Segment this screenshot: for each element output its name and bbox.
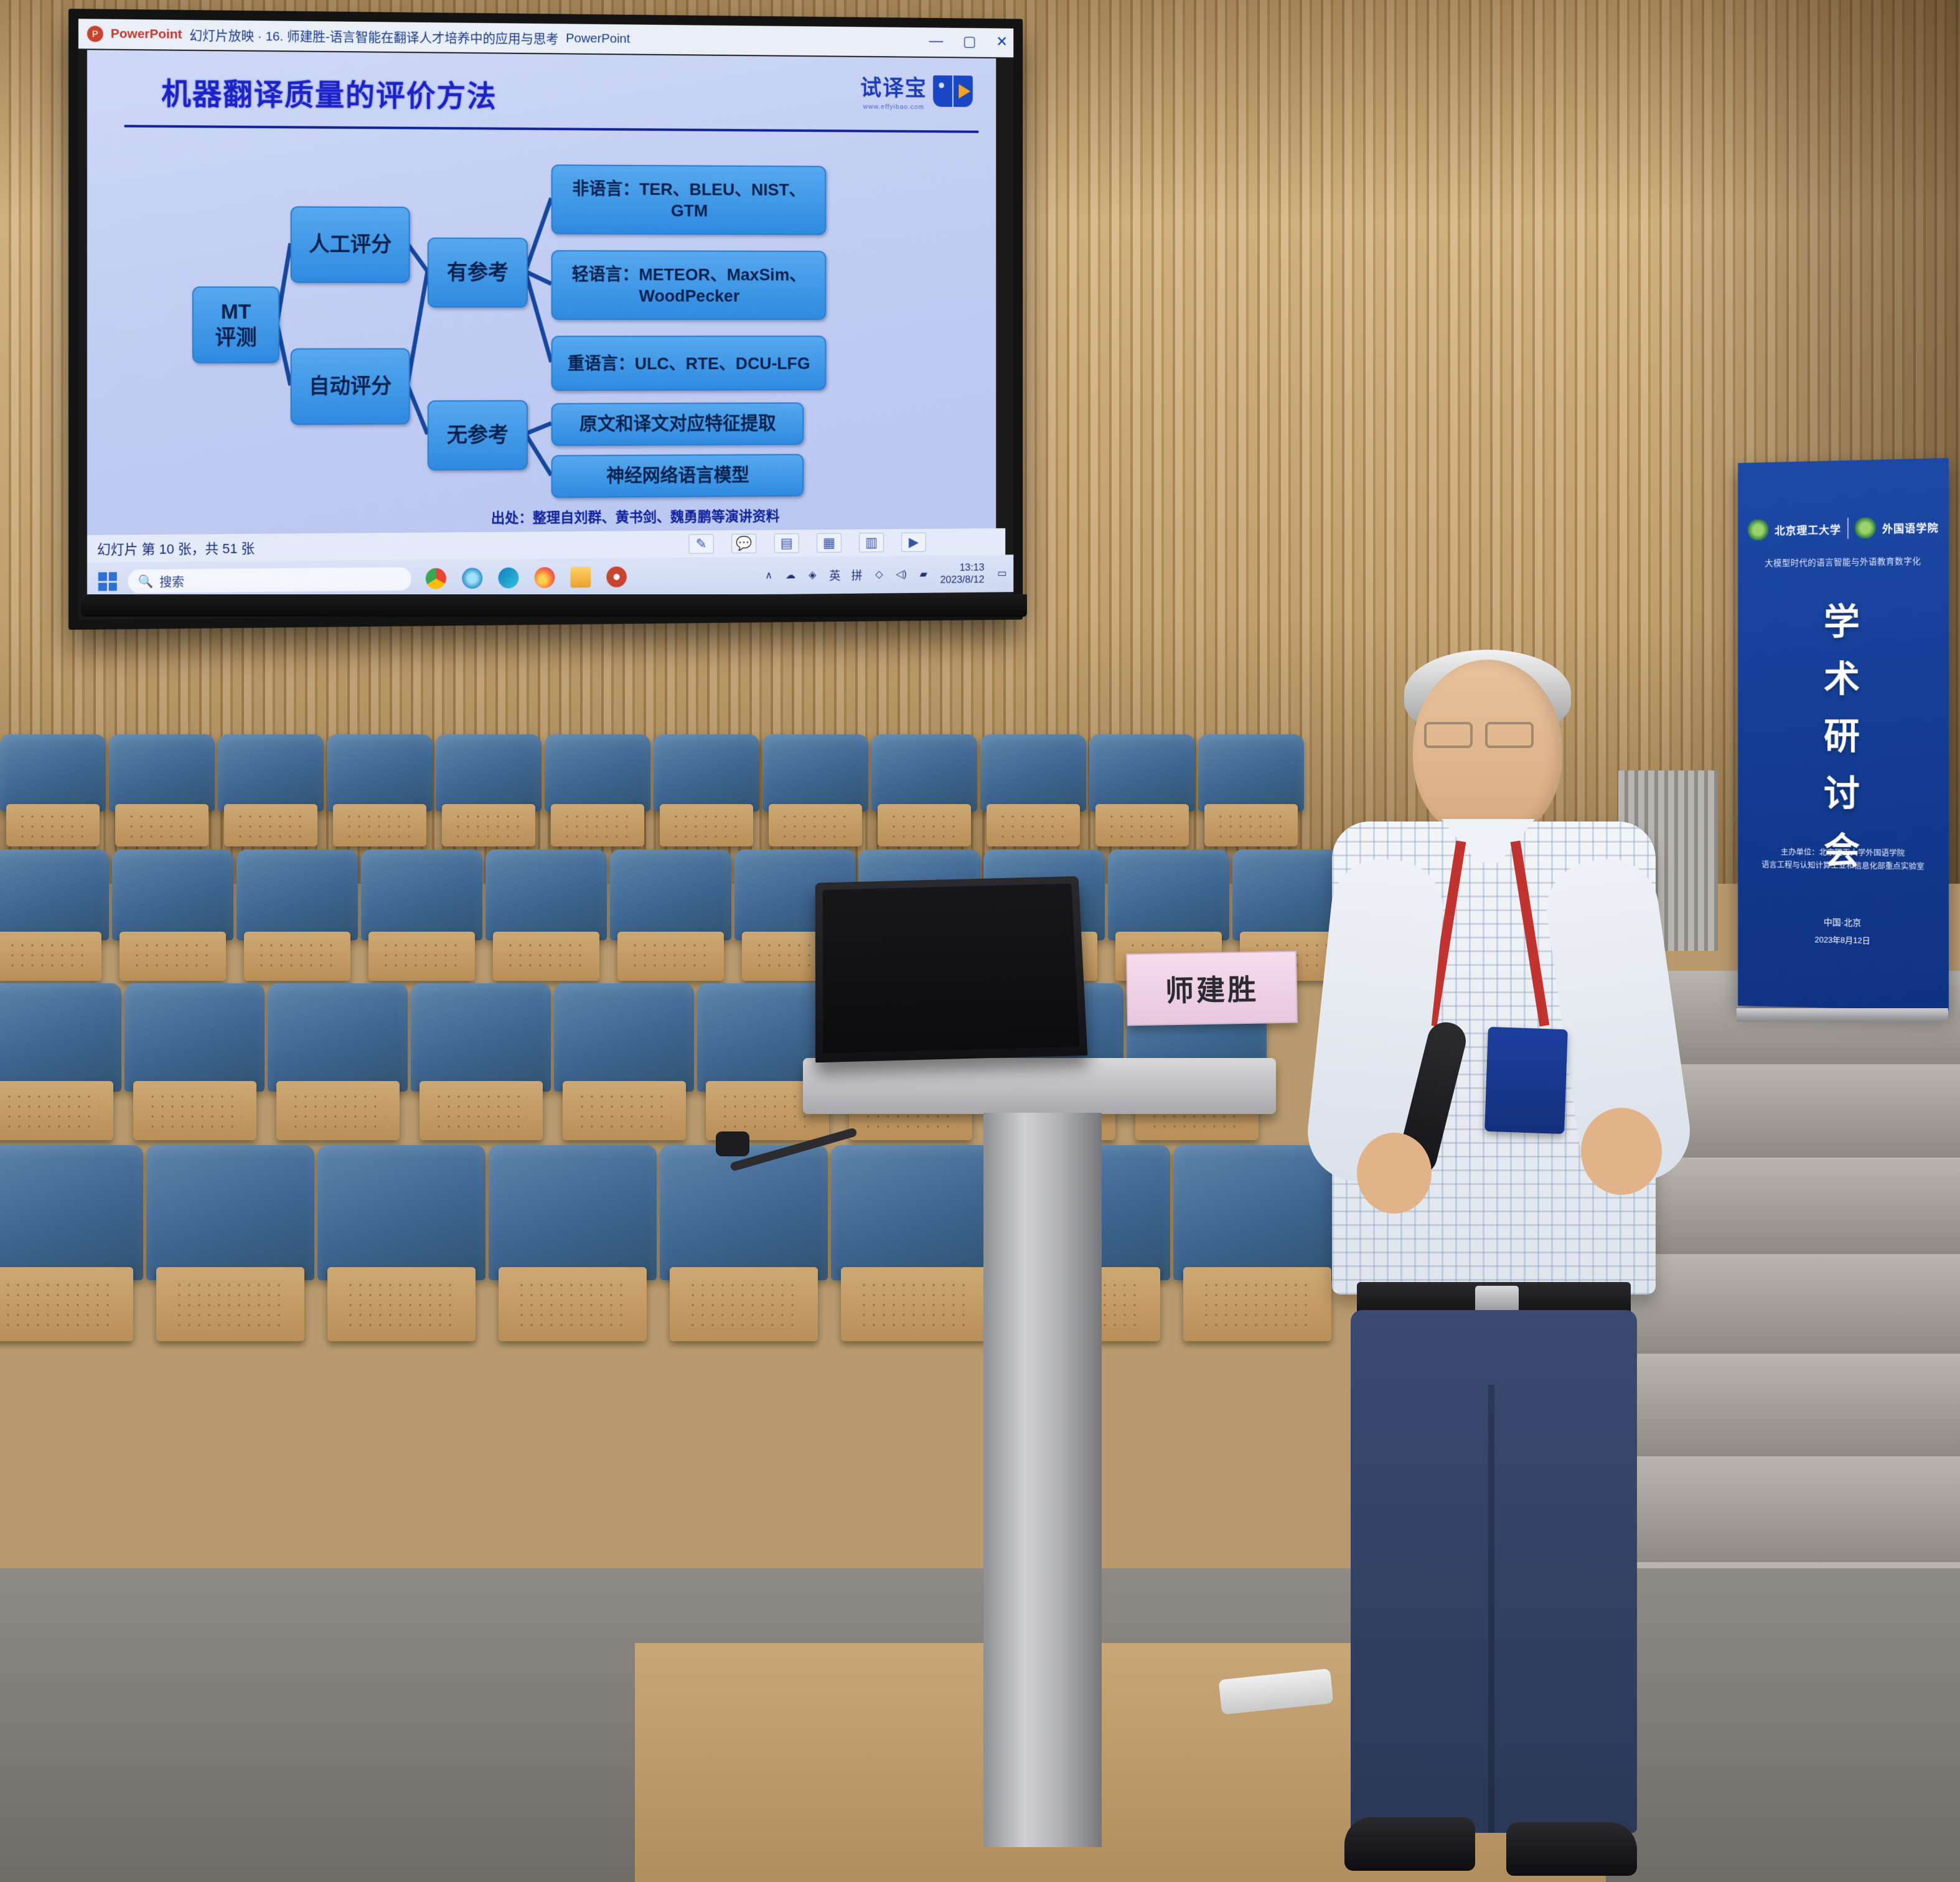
slide-title-rule [124,125,978,133]
firefox-icon[interactable] [535,567,555,588]
seat [1198,734,1304,859]
banner-subtitle: 大模型时代的语言智能与外语教育数字化 [1745,553,1941,569]
powerpoint-icon: P [87,26,103,42]
name-plate: 师建胜 [1126,951,1298,1026]
titlebar-suffix: PowerPoint [566,31,630,47]
slide-canvas: 机器翻译质量的评价方法 试译宝 www.effyibao.com [87,50,996,535]
seat [489,1145,657,1363]
banner-logo-divider [1847,518,1849,539]
ime-language-label: 英 [829,567,840,583]
comments-icon[interactable]: 💬 [731,534,756,554]
seat [237,850,358,996]
right-shoe [1506,1822,1637,1876]
left-hand [1357,1133,1432,1214]
banner-title-char: 术 [1824,650,1861,702]
internet-explorer-icon[interactable] [462,568,482,589]
banner-host-info: 主办单位：北京理工大学外国语学院 语言工程与认知计算工业和信息化部重点实验室 [1747,845,1940,874]
notes-icon[interactable]: ✎ [689,534,714,554]
seat [0,983,121,1158]
seat [554,983,694,1158]
seat [112,850,233,996]
banner-org-left: 北京理工大学 [1775,521,1841,538]
left-shoe [1344,1817,1475,1871]
bit-seal-icon [1748,519,1768,540]
flow-node-root-line2: 评测 [215,325,256,351]
seat [485,850,607,996]
seat [146,1145,314,1363]
monitor-bezel-bottom [81,594,1027,617]
presenter-laptop [815,876,1088,1063]
banner-date: 2023年8月12日 [1738,932,1949,947]
seat [411,983,551,1158]
flow-node-root-line1: MT [215,299,256,325]
banner-place: 中国·北京 [1738,914,1949,930]
volume-icon[interactable]: ◁) [896,568,907,581]
slide-title: 机器翻译质量的评价方法 [161,69,497,115]
flow-node-no-reference: 无参考 [428,400,528,470]
seat [327,734,433,859]
flow-leaf-heavy-linguistic: 重语言：ULC、RTE、DCU-LFG [551,335,827,391]
powerpoint-window: P PowerPoint 幻灯片放映 · 16. 师建胜-语言智能在翻译人才培养… [78,19,1013,620]
taskbar-app-icons [426,566,627,589]
school-seal-icon [1855,517,1876,539]
seat [1089,734,1195,859]
slideshow-icon[interactable]: ▶ [901,533,926,552]
security-icon[interactable]: ◇ [875,568,883,581]
logo-text: 试译宝 [860,70,927,102]
flow-leaf-feature-extraction: 原文和译文对应特征提取 [551,403,804,446]
seat [436,734,542,859]
banner-title-char: 学 [1824,592,1861,645]
book-icon [933,75,973,107]
banner-base [1737,1008,1948,1022]
seat [545,734,650,859]
flow-node-with-reference: 有参考 [428,238,528,308]
head [1413,660,1562,840]
flow-node-human-scoring: 人工评分 [291,206,410,283]
taskbar-search-input[interactable]: 🔍 搜索 [128,567,411,593]
close-icon[interactable]: ✕ [996,33,1008,50]
right-hand [1581,1108,1662,1195]
banner-institution-logos: 北京理工大学 外国语学院 [1738,516,1949,541]
windows-start-icon[interactable] [98,572,117,591]
chrome-icon[interactable] [426,568,446,589]
banner-title-char: 讨 [1824,764,1861,817]
search-icon: 🔍 [138,573,154,589]
slide-source-note: 出处：整理自刘群、黄书剑、魏勇鹏等演讲资料 [491,505,780,528]
flow-leaf-neural-lm: 神经网络语言模型 [551,454,804,498]
titlebar-app-name: PowerPoint [111,27,182,42]
seat [268,983,408,1158]
cloud-icon[interactable]: ☁ [785,569,795,582]
show-hidden-icons-icon[interactable]: ∧ [765,569,772,582]
flow-node-root: MT 评测 [192,286,279,363]
maximize-icon[interactable]: ▢ [963,33,976,50]
logo-url: www.effyibao.com [863,103,924,111]
slide-counter: 幻灯片 第 10 张，共 51 张 [97,538,255,559]
flow-leaf-lightweight-linguistic: 轻语言：METEOR、MaxSim、WoodPecker [551,250,827,320]
lectern-mic-head [716,1131,749,1156]
seat [317,1145,485,1363]
presenter [1320,635,1705,1882]
banner-title-char: 研 [1824,707,1861,759]
flow-leaf-nonlinguistic: 非语言：TER、BLEU、NIST、GTM [551,164,827,235]
seat [124,983,265,1158]
clock-date: 2023/8/12 [940,574,985,586]
conference-badge [1484,1027,1568,1134]
seat [654,734,759,859]
glasses-right-lens [1485,722,1534,748]
flow-node-auto-scoring: 自动评分 [291,348,410,424]
notification-center-icon[interactable]: ▭ [997,568,1006,579]
powerpoint-icon[interactable] [606,566,627,588]
titlebar-document-name: 幻灯片放映 · 16. 师建胜-语言智能在翻译人才培养中的应用与思考 [189,26,558,48]
banner-org-right: 外国语学院 [1882,519,1939,536]
taskbar-clock[interactable]: 13:13 2023/8/12 [940,562,985,586]
seat [109,734,215,859]
seat [0,850,109,996]
search-placeholder: 搜索 [159,572,184,590]
banner-main-title: 学 术 研 讨 会 [1738,591,1949,875]
window-controls: — ▢ ✕ [929,32,1008,50]
lectern [803,1058,1276,1842]
seat [361,850,482,996]
normal-view-icon[interactable]: ▤ [774,533,799,553]
lectern-top [803,1058,1276,1114]
reading-view-icon[interactable]: ▥ [859,533,884,552]
glasses-left-lens [1424,722,1473,748]
seat [0,1145,143,1363]
network-icon[interactable]: ▰ [920,568,927,581]
taskbar-tray: ∧ ☁ ◈ 英 拼 ◇ ◁) ▰ 13:13 2023/8/12 ▭ [765,561,1006,588]
conference-banner: 北京理工大学 外国语学院 大模型时代的语言智能与外语教育数字化 学 术 研 讨 … [1738,458,1949,1011]
clock-time: 13:13 [960,562,985,574]
file-explorer-icon[interactable] [570,567,591,588]
seat [871,734,977,859]
seat [762,734,868,859]
ime-indicator[interactable]: 英 拼 [829,566,862,583]
sorter-view-icon[interactable]: ▦ [817,533,842,553]
edge-icon[interactable] [498,568,518,589]
banner-host-line-2: 语言工程与认知计算工业和信息化部重点实验室 [1747,859,1940,874]
seat [218,734,324,859]
seat [980,734,1086,859]
seat [0,734,106,859]
powerpoint-view-toolbar: ✎ 💬 ▤ ▦ ▥ ▶ [689,533,926,554]
photo-scene: P PowerPoint 幻灯片放映 · 16. 师建胜-语言智能在翻译人才培养… [0,0,1960,1882]
shiyibao-logo: 试译宝 www.effyibao.com [860,70,973,111]
lectern-column [983,1113,1102,1847]
wall-display-monitor: P PowerPoint 幻灯片放映 · 16. 师建胜-语言智能在翻译人才培养… [68,9,1023,630]
seat [610,850,731,996]
ime-mode-label: 拼 [851,566,862,583]
trousers [1351,1310,1637,1833]
onedrive-icon[interactable]: ◈ [809,569,816,581]
minimize-icon[interactable]: — [929,32,944,50]
